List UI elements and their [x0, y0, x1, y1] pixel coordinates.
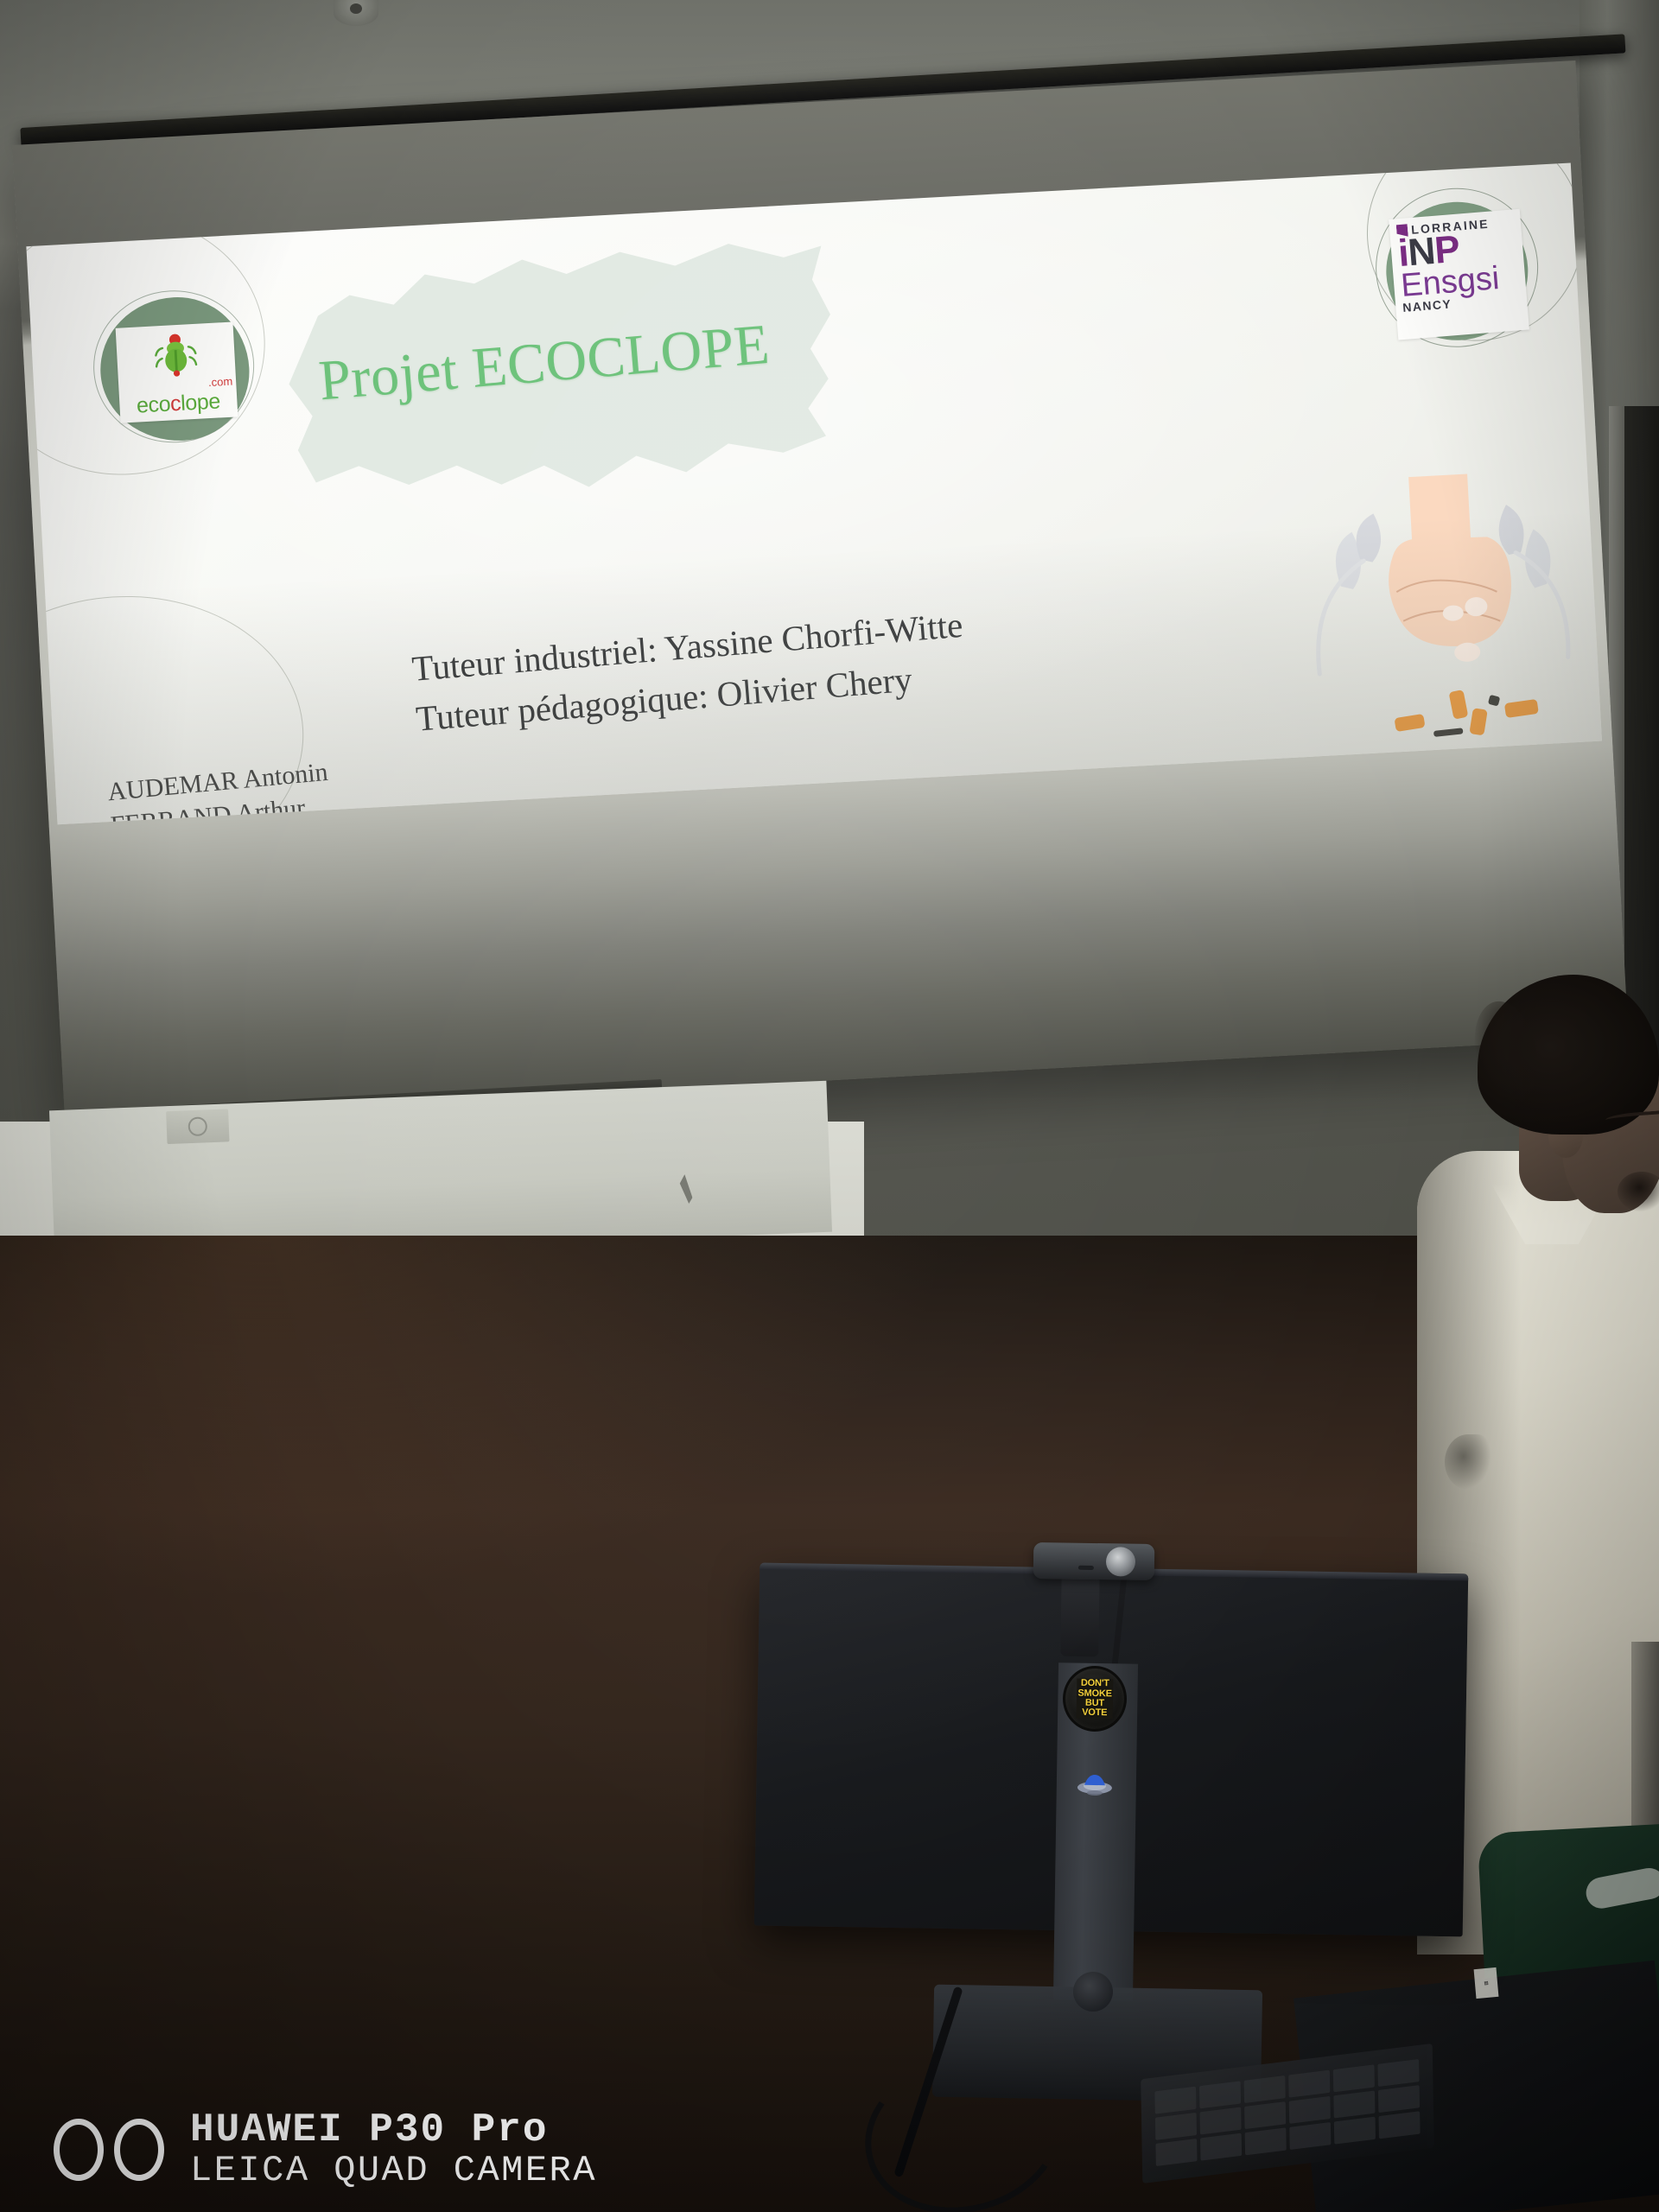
inp-ensgsi-logo: LORRAINE iNP Ensgsi NANCY [1371, 184, 1544, 357]
camera-watermark-text: HUAWEI P30 Pro LEICA QUAD CAMERA [190, 2109, 597, 2190]
ufo-sticker [1077, 1773, 1113, 1796]
device-label-sticker: ▤ [1474, 1967, 1499, 1999]
inp-logo-card: LORRAINE iNP Ensgsi NANCY [1389, 209, 1529, 340]
tutor-list: Tuteur industriel: Yassine Chorfi-Witte … [410, 575, 1280, 744]
dual-lens-icon [54, 2119, 164, 2181]
floor-light-sheen [0, 1236, 950, 1599]
wall-mark [674, 1174, 692, 1205]
shirt-print [1445, 1434, 1491, 1490]
projection-screen: .com ecoclope LORRAINE iNP Ensgsi NANCY [12, 60, 1629, 1122]
ecoclope-logo: .com ecoclope [90, 286, 262, 450]
presenter-head [1469, 975, 1659, 1191]
hand-dropping-cigarette-butts-icon [1293, 453, 1592, 753]
webcam-lens [1106, 1547, 1135, 1576]
webcam-mic [1078, 1566, 1094, 1570]
scarab-beetle-icon [151, 333, 200, 378]
camera-model: HUAWEI P30 Pro [190, 2109, 597, 2152]
presentation-slide: .com ecoclope LORRAINE iNP Ensgsi NANCY [26, 162, 1602, 824]
ecoclope-tld: .com [208, 375, 233, 390]
camera-system: LEICA QUAD CAMERA [190, 2152, 597, 2190]
ecoclope-wordmark: ecoclope [119, 390, 238, 417]
ceiling-vent-icon [334, 0, 378, 26]
screenshot-scene: .com ecoclope LORRAINE iNP Ensgsi NANCY [0, 0, 1659, 2212]
webcam-clip [1060, 1574, 1099, 1657]
webcam-icon[interactable] [1033, 1542, 1155, 1580]
chair-handle-slot [1584, 1866, 1659, 1911]
camera-watermark: HUAWEI P30 Pro LEICA QUAD CAMERA [54, 2098, 693, 2202]
sticker-line-4: VOTE [1077, 1708, 1113, 1719]
microphone-head [1073, 1972, 1113, 2012]
presenter-beard [1618, 1172, 1659, 1211]
wall-panel [49, 1081, 832, 1262]
keyboard-keys [1154, 2059, 1420, 2166]
ecoclope-logo-card: .com ecoclope [116, 321, 238, 423]
power-socket-icon [166, 1109, 229, 1144]
